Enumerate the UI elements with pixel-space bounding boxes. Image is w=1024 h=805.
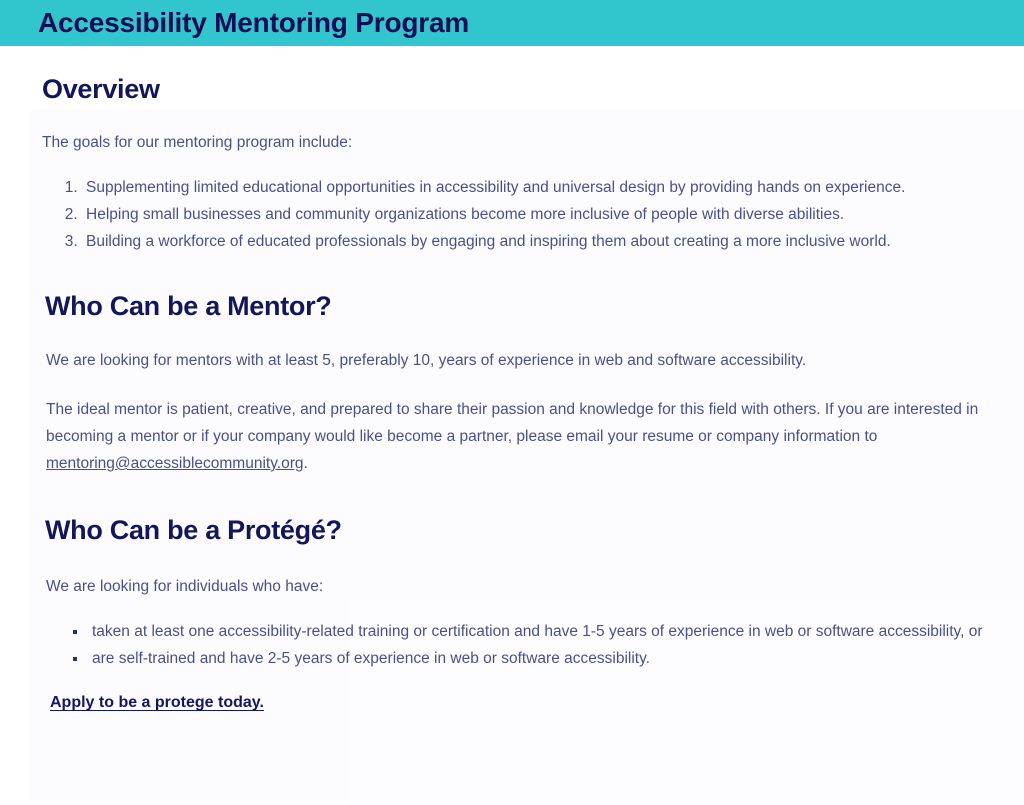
page-title: Accessibility Mentoring Program bbox=[38, 9, 469, 37]
list-item: are self-trained and have 2-5 years of e… bbox=[88, 645, 984, 672]
overview-goals-list: Supplementing limited educational opport… bbox=[40, 174, 982, 255]
protege-intro-text: We are looking for individuals who have: bbox=[40, 573, 984, 600]
apply-link-wrapper: Apply to be a protege today. bbox=[40, 694, 984, 712]
page-root: Accessibility Mentoring Program Overview… bbox=[0, 0, 1024, 712]
protege-heading: Who Can be a Protégé? bbox=[40, 515, 984, 546]
list-item: Building a workforce of educated profess… bbox=[82, 228, 982, 255]
section-overview: Overview The goals for our mentoring pro… bbox=[40, 74, 984, 255]
protege-requirements-list: taken at least one accessibility-related… bbox=[40, 618, 984, 672]
list-item: Supplementing limited educational opport… bbox=[82, 174, 982, 201]
apply-protege-link[interactable]: Apply to be a protege today. bbox=[50, 694, 264, 711]
mentoring-email-link[interactable]: mentoring@accessiblecommunity.org bbox=[46, 455, 304, 472]
section-protege: Who Can be a Protégé? We are looking for… bbox=[40, 515, 984, 712]
mentor-ideal-text-lead: The ideal mentor is patient, creative, a… bbox=[46, 401, 978, 445]
section-mentor: Who Can be a Mentor? We are looking for … bbox=[40, 291, 984, 477]
mentor-ideal-text-tail: . bbox=[304, 455, 308, 472]
mentor-experience-text: We are looking for mentors with at least… bbox=[40, 347, 984, 374]
main-content: Overview The goals for our mentoring pro… bbox=[0, 74, 1024, 712]
page-banner: Accessibility Mentoring Program bbox=[0, 0, 1024, 46]
overview-heading: Overview bbox=[40, 74, 984, 105]
list-item: Helping small businesses and community o… bbox=[82, 201, 982, 228]
mentor-heading: Who Can be a Mentor? bbox=[40, 291, 984, 322]
list-item: taken at least one accessibility-related… bbox=[88, 618, 984, 645]
mentor-ideal-text: The ideal mentor is patient, creative, a… bbox=[40, 396, 981, 477]
overview-intro-text: The goals for our mentoring program incl… bbox=[40, 129, 984, 156]
